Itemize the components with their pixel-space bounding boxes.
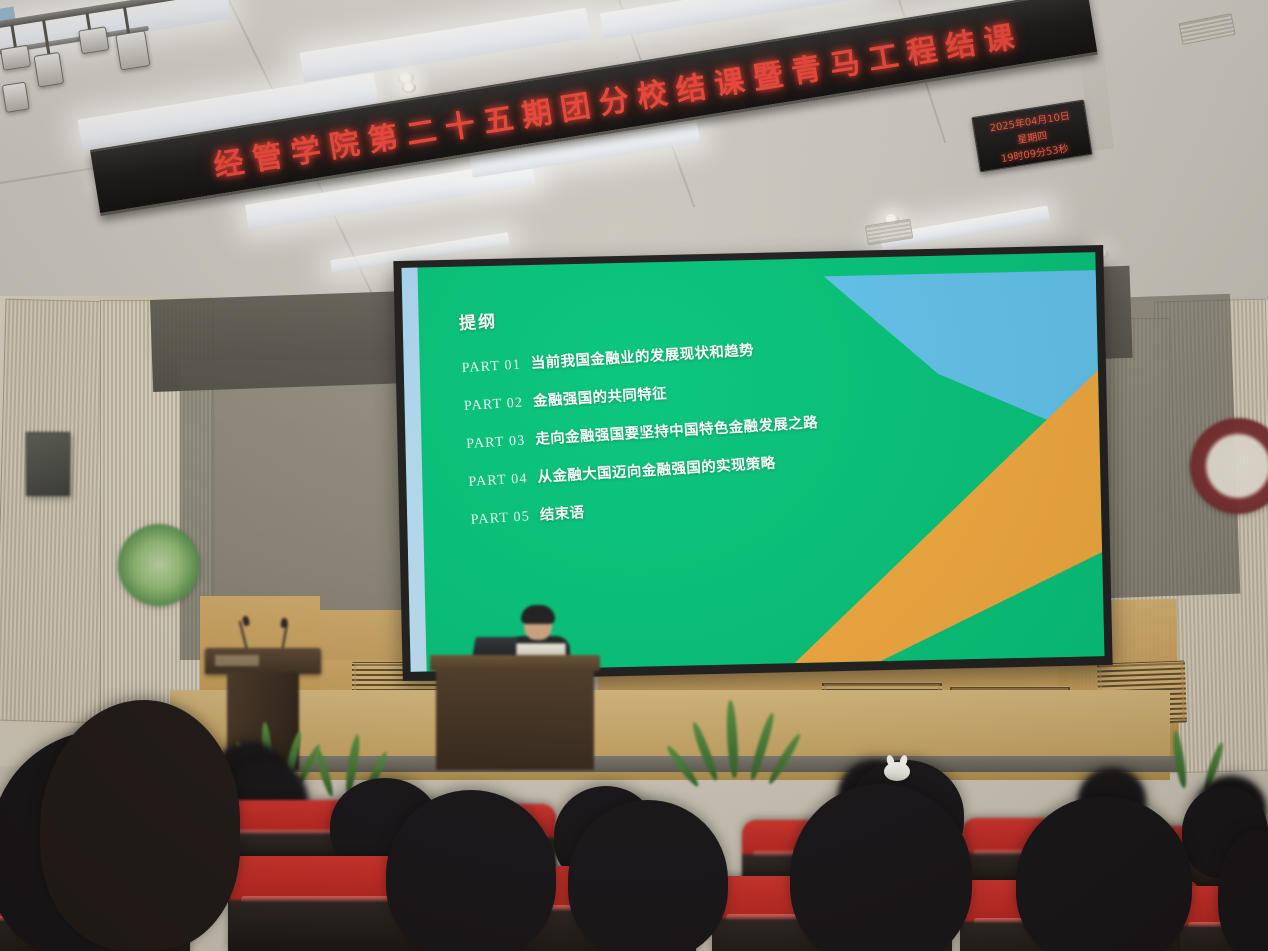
- lectern-logo-plate: [215, 655, 259, 666]
- speaker-table: [430, 655, 600, 770]
- par-light-icon: [0, 45, 31, 71]
- audience-head: [40, 700, 240, 950]
- slide-item-part: PART 01: [461, 358, 521, 377]
- slide-item-part: PART 05: [470, 509, 530, 528]
- lecture-hall-photo: 经管学院第二十五期团分校结课暨青马工程结课 2025年04月10日 星期四 19…: [0, 0, 1268, 951]
- acoustic-panel: [0, 299, 112, 724]
- presentation-slide: 提纲 PART 01 当前我国金融业的发展现状和趋势 PART 02 金融强国的…: [401, 252, 1104, 672]
- slide-item-text: 走向金融强国要坚持中国特色金融发展之路: [535, 411, 819, 449]
- bunny-hair-clip: [884, 762, 910, 781]
- slide-item: PART 04 从金融大国迈向金融强国的实现策略: [468, 449, 821, 491]
- slide-item: PART 02 金融强国的共同特征: [463, 373, 816, 415]
- slide-left-strip: [401, 268, 426, 672]
- par-light-icon: [2, 82, 30, 113]
- par-light-icon: [34, 52, 65, 88]
- slide-item-text: 从金融大国迈向金融强国的实现策略: [537, 452, 776, 487]
- slide-item-part: PART 03: [466, 433, 526, 452]
- slide-item: PART 05 结束语: [470, 487, 823, 529]
- audience-head: [1016, 796, 1192, 951]
- laptop: [472, 637, 518, 657]
- slide-title: 提纲: [458, 288, 811, 334]
- wall-mounted-loudspeaker: [26, 432, 70, 496]
- slide-item-text: 金融强国的共同特征: [532, 382, 667, 411]
- slide-item-text: 当前我国金融业的发展现状和趋势: [530, 339, 754, 373]
- slide-decorative-shapes: [775, 252, 1104, 663]
- slide-item: PART 03 走向金融强国要坚持中国特色金融发展之路: [466, 411, 819, 453]
- slide-item: PART 01 当前我国金融业的发展现状和趋势: [461, 335, 814, 377]
- par-light-icon: [78, 26, 109, 54]
- audience-head: [568, 800, 728, 951]
- downlight-icon: [402, 82, 416, 93]
- university-seal-emblem: [118, 524, 200, 606]
- audience-head: [386, 790, 556, 951]
- slide-item-part: PART 02: [464, 396, 524, 415]
- slide-item-part: PART 04: [468, 471, 528, 490]
- slide-text-block: 提纲 PART 01 当前我国金融业的发展现状和趋势 PART 02 金融强国的…: [458, 288, 824, 545]
- slide-item-text: 结束语: [539, 501, 585, 525]
- par-light-icon: [115, 30, 150, 70]
- projection-screen: 提纲 PART 01 当前我国金融业的发展现状和趋势 PART 02 金融强国的…: [393, 245, 1112, 681]
- potted-plant: [690, 700, 810, 810]
